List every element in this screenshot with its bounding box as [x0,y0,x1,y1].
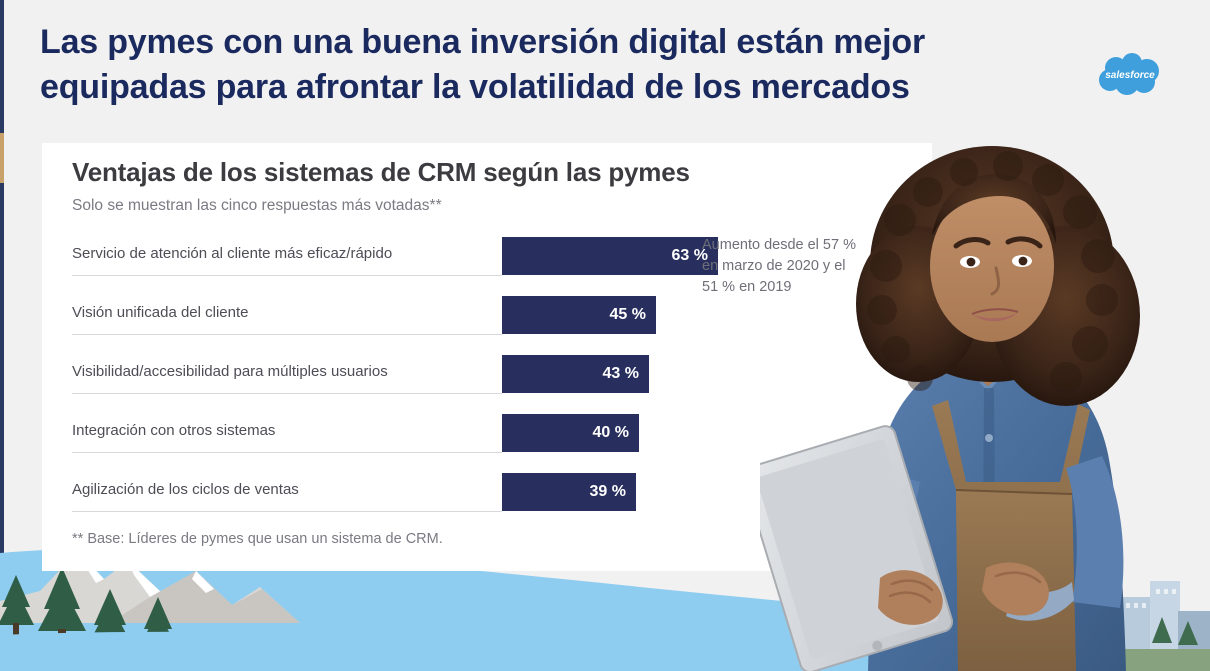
bar: 43 % [502,355,649,393]
photo-woman-with-tablet [760,138,1210,671]
bar: 39 % [502,473,636,511]
chart-title: Ventajas de los sistemas de CRM según la… [72,157,690,188]
bar-row-label: Agilización de los ciclos de ventas [72,481,472,498]
bar: 45 % [502,296,656,334]
chart-footnote: ** Base: Líderes de pymes que usan un si… [72,531,443,547]
salesforce-cloud-logo: salesforce [1094,52,1166,98]
bar-row-label: Visión unificada del cliente [72,304,472,321]
chart-subtitle: Solo se muestran las cinco respuestas má… [72,197,442,215]
bar-row-divider [72,511,502,512]
bar-value-label: 45 % [610,306,646,324]
bar-value-label: 39 % [590,483,626,501]
edge-accent-gold [0,133,4,183]
page-title-line-2: equipadas para afrontar la volatilidad d… [40,65,1120,110]
page-title: Las pymes con una buena inversión digita… [40,20,1120,110]
slide-canvas: Las pymes con una buena inversión digita… [0,0,1210,671]
bar-row-label: Servicio de atención al cliente más efic… [72,245,472,262]
bar-row-divider [72,393,502,394]
bar-value-label: 40 % [593,424,629,442]
bar-row-divider [72,452,502,453]
page-title-line-1: Las pymes con una buena inversión digita… [40,20,1120,65]
bar-row-divider [72,275,502,276]
edge-accent-navy-top [0,0,4,133]
bar-row-label: Visibilidad/accesibilidad para múltiples… [72,363,472,380]
bar-row-divider [72,334,502,335]
svg-text:salesforce: salesforce [1105,70,1155,81]
bar-row-label: Integración con otros sistemas [72,422,472,439]
bar-value-label: 43 % [603,365,639,383]
bar: 63 % [502,237,718,275]
bar: 40 % [502,414,639,452]
